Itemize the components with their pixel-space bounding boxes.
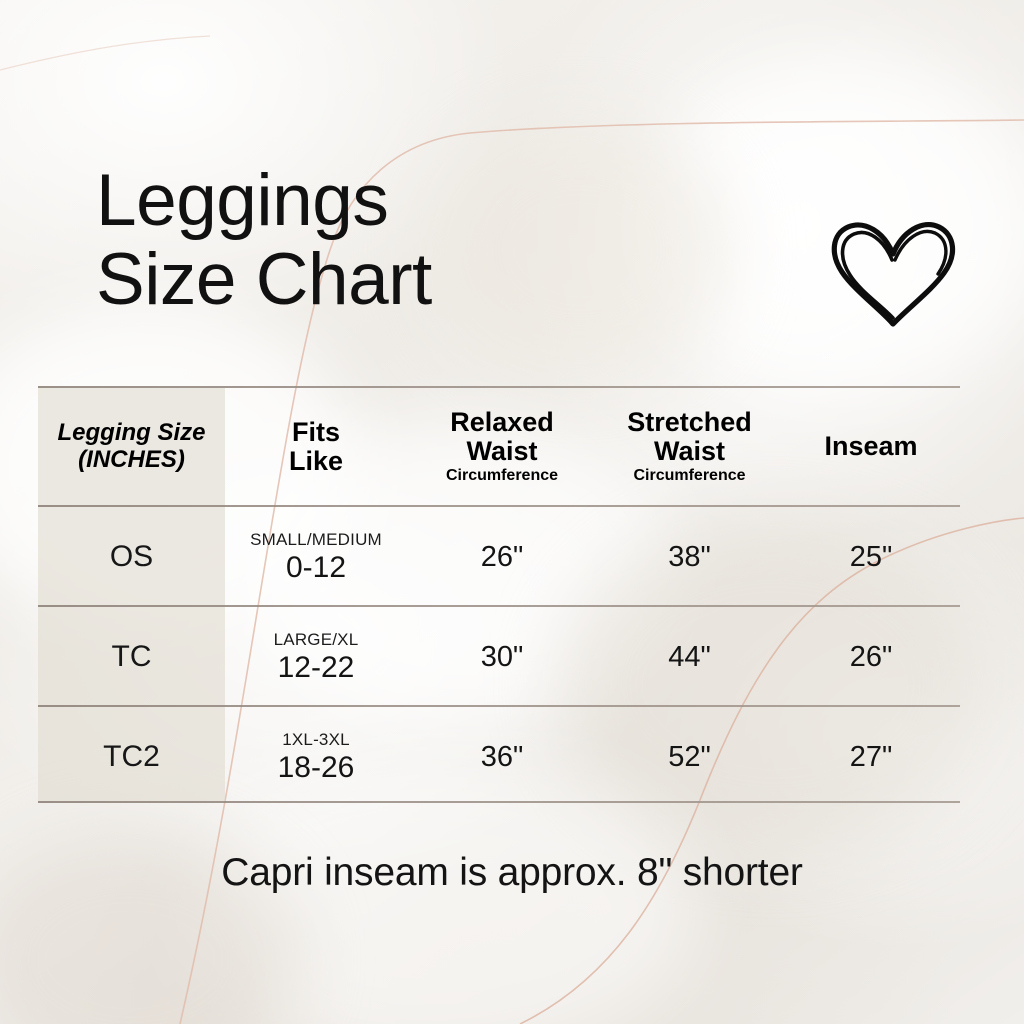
capri-inseam-note: Capri inseam is approx. 8" shorter <box>0 851 1024 895</box>
cell-inseam: 25" <box>782 541 960 574</box>
fits-like-numeric: 18-26 <box>278 751 355 785</box>
cell-stretched-waist: 44" <box>597 641 782 674</box>
size-chart-canvas: Leggings Size Chart Legging Size (INCHES… <box>0 0 1024 1024</box>
fits-like-size: 1XL-3XL <box>282 730 350 750</box>
cell-fits-like: SMALL/MEDIUM 0-12 <box>225 530 407 585</box>
page-title: Leggings Size Chart <box>96 162 736 320</box>
inseam-value: 26" <box>850 641 893 674</box>
header-label: Stretched Waist <box>627 408 752 465</box>
header-label: Inseam <box>824 432 917 461</box>
cell-relaxed-waist: 26" <box>407 541 597 574</box>
fits-like-size: SMALL/MEDIUM <box>250 530 382 550</box>
fits-like-numeric: 0-12 <box>286 551 346 585</box>
cell-relaxed-waist: 36" <box>407 741 597 774</box>
stretched-waist-value: 52" <box>668 741 711 774</box>
table-row: TC LARGE/XL 12-22 30" 44" 26" <box>38 607 960 707</box>
table-row: TC2 1XL-3XL 18-26 36" 52" 27" <box>38 707 960 807</box>
header-cell-relaxed-waist: Relaxed Waist Circumference <box>407 408 597 484</box>
table-header-row: Legging Size (INCHES) Fits Like Relaxed … <box>38 388 960 505</box>
relaxed-waist-value: 26" <box>481 541 524 574</box>
stretched-waist-value: 44" <box>668 641 711 674</box>
legging-size-value: TC2 <box>103 740 160 774</box>
relaxed-waist-value: 36" <box>481 741 524 774</box>
fits-like-numeric: 12-22 <box>278 651 355 685</box>
inseam-value: 25" <box>850 541 893 574</box>
cell-stretched-waist: 52" <box>597 741 782 774</box>
stretched-waist-value: 38" <box>668 541 711 574</box>
hand-drawn-heart-icon <box>824 214 964 334</box>
size-chart-table: Legging Size (INCHES) Fits Like Relaxed … <box>38 386 960 803</box>
header-label: Legging Size (INCHES) <box>57 420 205 474</box>
fits-like-size: LARGE/XL <box>274 630 359 650</box>
inseam-value: 27" <box>850 741 893 774</box>
relaxed-waist-value: 30" <box>481 641 524 674</box>
cell-legging-size: OS <box>38 540 225 574</box>
header-sublabel: Circumference <box>633 467 745 485</box>
cell-legging-size: TC <box>38 640 225 674</box>
cell-fits-like: 1XL-3XL 18-26 <box>225 730 407 785</box>
header-cell-legging-size: Legging Size (INCHES) <box>38 420 225 474</box>
cell-inseam: 26" <box>782 641 960 674</box>
header-cell-stretched-waist: Stretched Waist Circumference <box>597 408 782 484</box>
cell-stretched-waist: 38" <box>597 541 782 574</box>
cell-fits-like: LARGE/XL 12-22 <box>225 630 407 685</box>
cell-legging-size: TC2 <box>38 740 225 774</box>
header-cell-fits-like: Fits Like <box>225 418 407 475</box>
legging-size-value: OS <box>110 540 153 574</box>
legging-size-value: TC <box>112 640 152 674</box>
header-label: Relaxed Waist <box>450 408 554 465</box>
header-sublabel: Circumference <box>446 467 558 485</box>
header-label: Fits Like <box>289 418 343 475</box>
header-cell-inseam: Inseam <box>782 432 960 461</box>
cell-inseam: 27" <box>782 741 960 774</box>
table-row: OS SMALL/MEDIUM 0-12 26" 38" 25" <box>38 507 960 607</box>
cell-relaxed-waist: 30" <box>407 641 597 674</box>
